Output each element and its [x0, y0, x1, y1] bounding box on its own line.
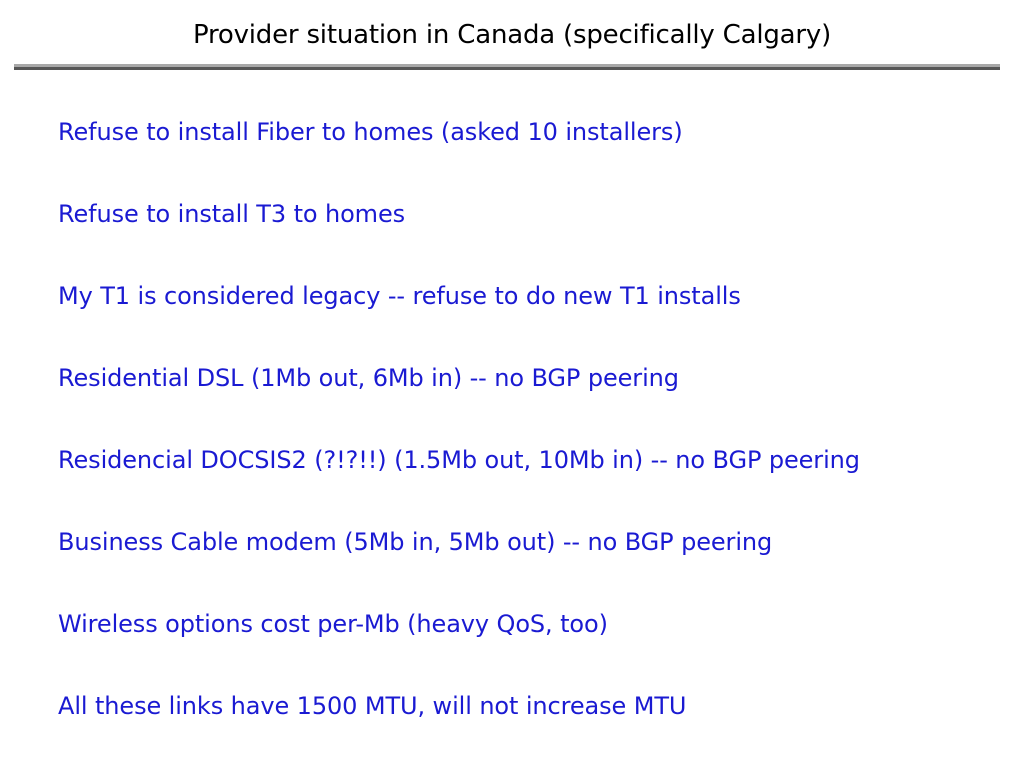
bullet-list: Refuse to install Fiber to homes (asked … — [58, 112, 1008, 768]
page-title: Provider situation in Canada (specifical… — [0, 20, 1024, 50]
title-divider — [14, 64, 1000, 70]
list-item: Refuse to install Fiber to homes (asked … — [58, 112, 1008, 194]
list-item: Business Cable modem (5Mb in, 5Mb out) -… — [58, 522, 1008, 604]
list-item: Residencial DOCSIS2 (?!?!!) (1.5Mb out, … — [58, 440, 1008, 522]
list-item: Refuse to install T3 to homes — [58, 194, 1008, 276]
presentation-slide: Provider situation in Canada (specifical… — [0, 0, 1024, 768]
divider-band-dark — [14, 67, 1000, 70]
list-item: My T1 is considered legacy -- refuse to … — [58, 276, 1008, 358]
list-item: All these links have 1500 MTU, will not … — [58, 686, 1008, 768]
list-item: Residential DSL (1Mb out, 6Mb in) -- no … — [58, 358, 1008, 440]
list-item: Wireless options cost per-Mb (heavy QoS,… — [58, 604, 1008, 686]
